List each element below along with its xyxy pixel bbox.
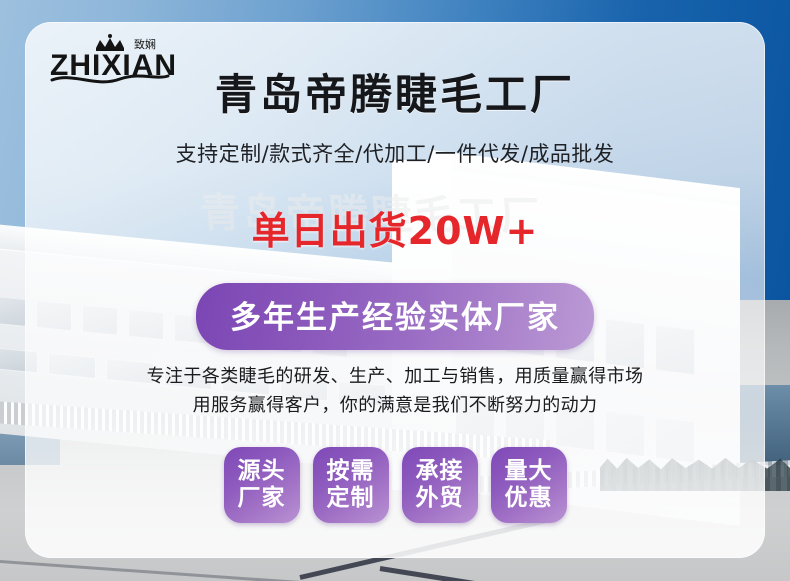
badge-line-1: 按需 xyxy=(327,459,375,485)
badge-line-1: 承接 xyxy=(416,459,464,485)
badge-line-2: 厂家 xyxy=(238,486,286,512)
badge-source-factory[interactable]: 源头 厂家 xyxy=(224,447,300,523)
page-title: 青岛帝腾睫毛工厂 xyxy=(0,74,790,116)
badge-bulk-discount[interactable]: 量大 优惠 xyxy=(491,447,567,523)
banner-content: ZHIXIAN 致娴 青岛帝腾睫毛工厂 支持定制/款式齐全/代加工/一件代发/成… xyxy=(0,0,790,581)
badge-line-1: 源头 xyxy=(238,459,286,485)
description-line-1: 专注于各类睫毛的研发、生产、加工与销售，用质量赢得市场 xyxy=(0,362,790,391)
badge-line-2: 外贸 xyxy=(416,486,464,512)
badge-line-2: 定制 xyxy=(327,486,375,512)
experience-pill: 多年生产经验实体厂家 xyxy=(196,283,594,350)
svg-text:致娴: 致娴 xyxy=(134,37,156,51)
feature-badges: 源头 厂家 按需 定制 承接 外贸 量大 优惠 xyxy=(0,447,790,523)
badge-custom-made[interactable]: 按需 定制 xyxy=(313,447,389,523)
service-subtitle: 支持定制/款式齐全/代加工/一件代发/成品批发 xyxy=(0,138,790,168)
daily-shipment-highlight: 单日出货20W+ xyxy=(0,200,790,255)
promo-banner: 青岛帝腾睫毛工厂 xyxy=(0,0,790,581)
experience-pill-wrapper: 多年生产经验实体厂家 xyxy=(0,283,790,350)
badge-foreign-trade[interactable]: 承接 外贸 xyxy=(402,447,478,523)
company-description: 专注于各类睫毛的研发、生产、加工与销售，用质量赢得市场 用服务赢得客户，你的满意… xyxy=(0,362,790,420)
description-line-2: 用服务赢得客户，你的满意是我们不断努力的动力 xyxy=(0,391,790,420)
badge-line-2: 优惠 xyxy=(505,486,553,512)
badge-line-1: 量大 xyxy=(505,459,553,485)
